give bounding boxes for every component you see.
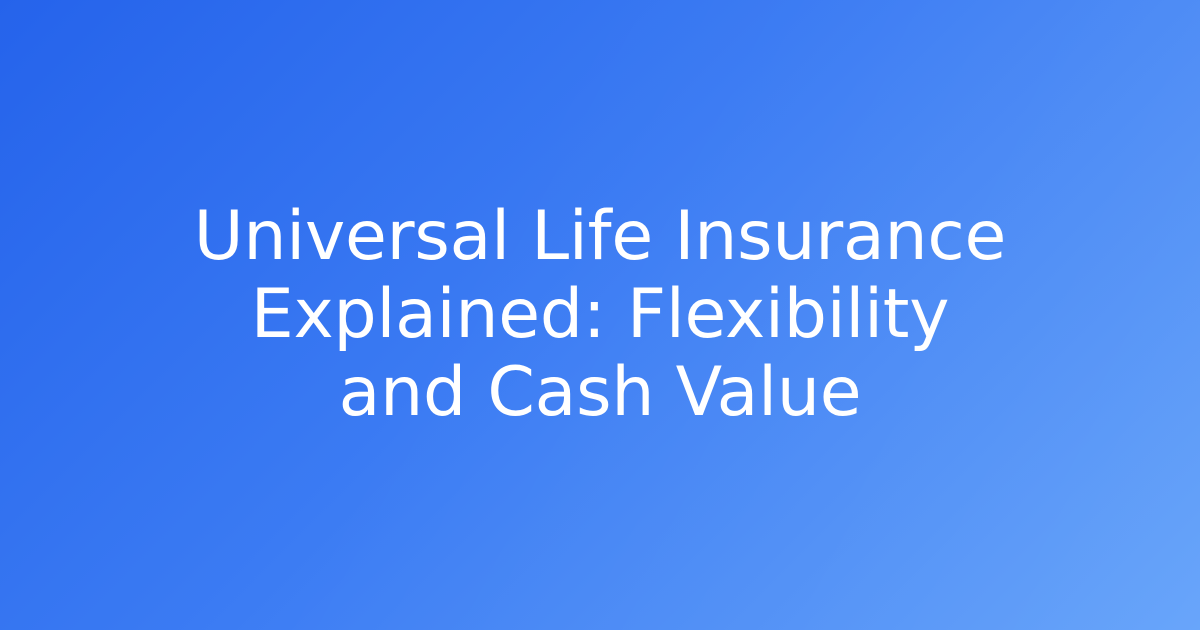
title-block: Universal Life Insurance Explained: Flex… (170, 198, 1030, 432)
social-share-card: Universal Life Insurance Explained: Flex… (0, 0, 1200, 630)
card-title: Universal Life Insurance Explained: Flex… (190, 198, 1010, 432)
